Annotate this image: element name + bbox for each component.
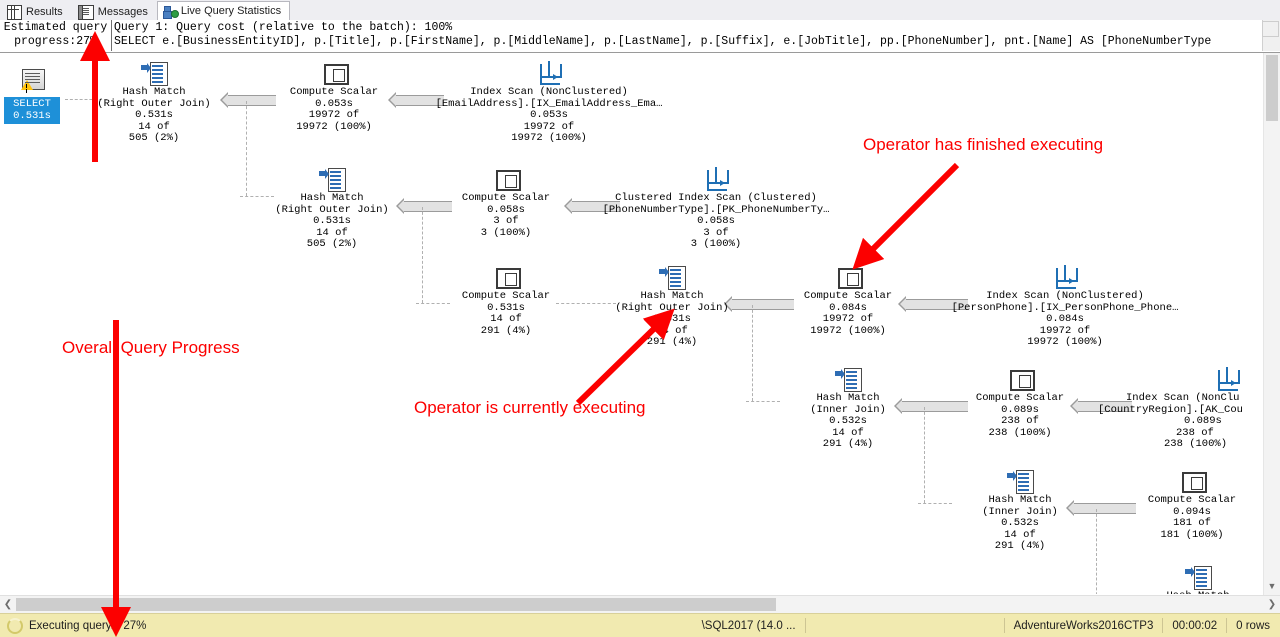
status-bar-right-group: \SQL2017 (14.0 ... AdventureWorks2016CTP… — [702, 618, 1280, 633]
node-line: Index Scan (NonClu — [1098, 393, 1280, 405]
connector-hashmatch4-down — [924, 407, 925, 503]
node-line: Index Scan (NonClustered) — [942, 291, 1188, 303]
connector-hashmatch4-to-hashmatch5 — [918, 503, 952, 504]
node-line: 291 (4%) — [444, 326, 568, 338]
node-line: 19972 (100%) — [786, 326, 910, 338]
status-row-count: 0 rows — [1236, 620, 1280, 632]
plan-vertical-scrollbar[interactable]: ▼ — [1263, 53, 1280, 595]
tab-live-query-statistics[interactable]: Live Query Statistics — [157, 1, 290, 21]
plan-node-hash-match-6[interactable]: Hash Match — [1140, 565, 1256, 594]
annotation-overall-progress-arrow — [80, 40, 130, 628]
compute-scalar-icon — [321, 61, 347, 85]
node-line: 291 (4%) — [790, 439, 906, 451]
plan-node-select[interactable]: SELECT 0.531s — [4, 69, 62, 97]
node-line: Compute Scalar — [1130, 495, 1254, 507]
plan-node-hash-match-4[interactable]: Hash Match (Inner Join) 0.532s 14 of 291… — [790, 367, 906, 451]
plan-node-compute-scalar-5[interactable]: Compute Scalar 0.089s 238 of 238 (100%) — [958, 367, 1082, 439]
node-line: Hash Match — [790, 393, 906, 405]
estimated-progress-line1: Estimated query — [0, 21, 111, 35]
node-line: 19972 (100%) — [942, 337, 1188, 349]
node-line: 238 of — [958, 416, 1082, 428]
plan-node-compute-scalar-6[interactable]: Compute Scalar 0.094s 181 of 181 (100%) — [1130, 469, 1254, 541]
node-line: 3 (100%) — [594, 239, 838, 251]
node-line: 181 of — [1130, 518, 1254, 530]
plan-node-compute-scalar-1[interactable]: Compute Scalar 0.053s 19972 of 19972 (10… — [272, 61, 396, 133]
chevron-left-icon[interactable]: ❮ — [2, 598, 14, 611]
node-line: Hash Match — [264, 193, 400, 205]
node-line: 0.089s — [1098, 416, 1280, 428]
plan-node-clustered-index-scan-phonenumbertype[interactable]: Clustered Index Scan (Clustered) [PhoneN… — [594, 167, 838, 251]
node-line: 19972 of — [786, 314, 910, 326]
plan-horizontal-scroll-thumb[interactable] — [16, 598, 776, 611]
plan-node-index-scan-emailaddress[interactable]: Index Scan (NonClustered) [EmailAddress]… — [418, 61, 680, 145]
connector-hashmatch1-computescalar1 — [228, 95, 276, 106]
node-line: 3 of — [444, 216, 568, 228]
connector-hashmatch5-computescalar6 — [1074, 503, 1136, 514]
index-scan-icon — [536, 61, 562, 85]
message-icon — [79, 5, 94, 20]
hash-match-icon — [659, 265, 685, 289]
status-divider — [1162, 618, 1163, 633]
index-scan-icon — [1214, 367, 1240, 391]
grid-icon — [7, 5, 22, 20]
node-line: Compute Scalar — [272, 87, 396, 99]
compute-scalar-icon — [493, 265, 519, 289]
connector-hashmatch5-down — [1096, 509, 1097, 594]
plan-node-compute-scalar-3[interactable]: Compute Scalar 0.531s 14 of 291 (4%) — [444, 265, 568, 337]
node-line: Compute Scalar — [444, 193, 568, 205]
node-line: 238 (100%) — [1098, 439, 1280, 451]
query-sql-line: SELECT e.[BusinessEntityID], p.[Title], … — [114, 35, 1262, 49]
loading-spinner-icon — [7, 618, 23, 634]
plan-node-index-scan-personphone[interactable]: Index Scan (NonClustered) [PersonPhone].… — [942, 265, 1188, 349]
node-line: 0.084s — [942, 314, 1188, 326]
compute-scalar-icon — [1007, 367, 1033, 391]
connector-hashmatch3-to-hashmatch4 — [746, 401, 780, 402]
index-scan-icon — [1052, 265, 1078, 289]
status-divider — [805, 618, 806, 633]
scroll-up-button[interactable] — [1262, 21, 1279, 37]
tab-messages[interactable]: Messages — [72, 2, 157, 21]
hash-match-icon — [319, 167, 345, 191]
status-elapsed-time: 00:00:02 — [1172, 620, 1217, 632]
select-badge-label: SELECT — [4, 98, 60, 110]
execution-plan-canvas[interactable]: SELECT 0.531s Hash Match (Right Outer Jo… — [0, 53, 1280, 594]
tab-results[interactable]: Results — [0, 2, 72, 21]
node-line: 14 of — [444, 314, 568, 326]
connector-hashmatch1-down — [246, 101, 247, 196]
node-line: 0.531s — [264, 216, 400, 228]
tab-results-label: Results — [26, 6, 63, 18]
index-scan-icon — [703, 167, 729, 191]
node-line: 505 (2%) — [264, 239, 400, 251]
status-database: AdventureWorks2016CTP3 — [1014, 620, 1154, 632]
tab-messages-label: Messages — [98, 6, 148, 18]
hash-match-icon — [1185, 565, 1211, 589]
query-header-pane: Estimated query progress:27% Query 1: Qu… — [0, 20, 1280, 53]
chevron-down-icon[interactable]: ▼ — [1266, 580, 1278, 593]
connector-hashmatch3-down — [752, 305, 753, 401]
annotation-operator-executing-arrow — [560, 303, 690, 413]
plan-vertical-scroll-thumb[interactable] — [1266, 55, 1278, 121]
status-divider — [1004, 618, 1005, 633]
chevron-right-icon[interactable]: ❯ — [1266, 598, 1278, 611]
plan-horizontal-scrollbar[interactable]: ❮ ❯ — [0, 595, 1280, 613]
status-server: \SQL2017 (14.0 ... — [702, 620, 796, 632]
query-cost-line: Query 1: Query cost (relative to the bat… — [114, 21, 1262, 35]
results-tab-strip: Results Messages Live Query Statistics — [0, 0, 1280, 21]
select-badge-cost: 0.531s — [4, 110, 60, 122]
result-select-icon — [18, 69, 48, 95]
plan-node-hash-match-5[interactable]: Hash Match (Inner Join) 0.532s 14 of 291… — [962, 469, 1078, 553]
status-divider — [1226, 618, 1227, 633]
annotation-operator-finished-label: Operator has finished executing — [863, 135, 1103, 155]
connector-hashmatch3-computescalar4 — [732, 299, 794, 310]
node-line: 19972 (100%) — [272, 122, 396, 134]
node-line: 19972 (100%) — [418, 133, 680, 145]
node-line: 19972 of — [272, 110, 396, 122]
node-line: 181 (100%) — [1130, 530, 1254, 542]
compute-scalar-icon — [493, 167, 519, 191]
plan-node-index-scan-countryregion[interactable]: Index Scan (NonClu [CountryRegion].[AK_C… — [1098, 367, 1280, 451]
node-line: Clustered Index Scan (Clustered) — [594, 193, 838, 205]
compute-scalar-icon — [1179, 469, 1205, 493]
plan-node-compute-scalar-2[interactable]: Compute Scalar 0.058s 3 of 3 (100%) — [444, 167, 568, 239]
hash-match-icon — [141, 61, 167, 85]
node-line: Hash Match — [604, 291, 740, 303]
node-line: 0.053s — [418, 110, 680, 122]
node-line: 238 (100%) — [958, 428, 1082, 440]
query-text-block: Query 1: Query cost (relative to the bat… — [114, 20, 1262, 51]
plan-node-hash-match-2[interactable]: Hash Match (Right Outer Join) 0.531s 14 … — [264, 167, 400, 251]
node-line: 3 (100%) — [444, 228, 568, 240]
live-query-statistics-icon — [164, 5, 177, 18]
node-line: Compute Scalar — [958, 393, 1082, 405]
node-line: Hash Match — [962, 495, 1078, 507]
node-line: 0.532s — [962, 518, 1078, 530]
query-header-scrollbar[interactable] — [1262, 20, 1280, 51]
annotation-operator-finished-arrow — [845, 163, 975, 293]
select-cost-badge: SELECT 0.531s — [4, 97, 60, 124]
node-line: Compute Scalar — [444, 291, 568, 303]
hash-match-icon — [1007, 469, 1033, 493]
node-line: 291 (4%) — [962, 541, 1078, 553]
status-bar: Executing query... 27% \SQL2017 (14.0 ..… — [0, 613, 1280, 637]
node-line: 0.058s — [594, 216, 838, 228]
hash-match-icon — [835, 367, 861, 391]
node-line: Index Scan (NonClustered) — [418, 87, 680, 99]
node-line: Hash Match — [1140, 591, 1256, 594]
tab-live-query-statistics-label: Live Query Statistics — [181, 5, 281, 17]
connector-hashmatch2-down — [422, 207, 423, 303]
node-line: 0.532s — [790, 416, 906, 428]
